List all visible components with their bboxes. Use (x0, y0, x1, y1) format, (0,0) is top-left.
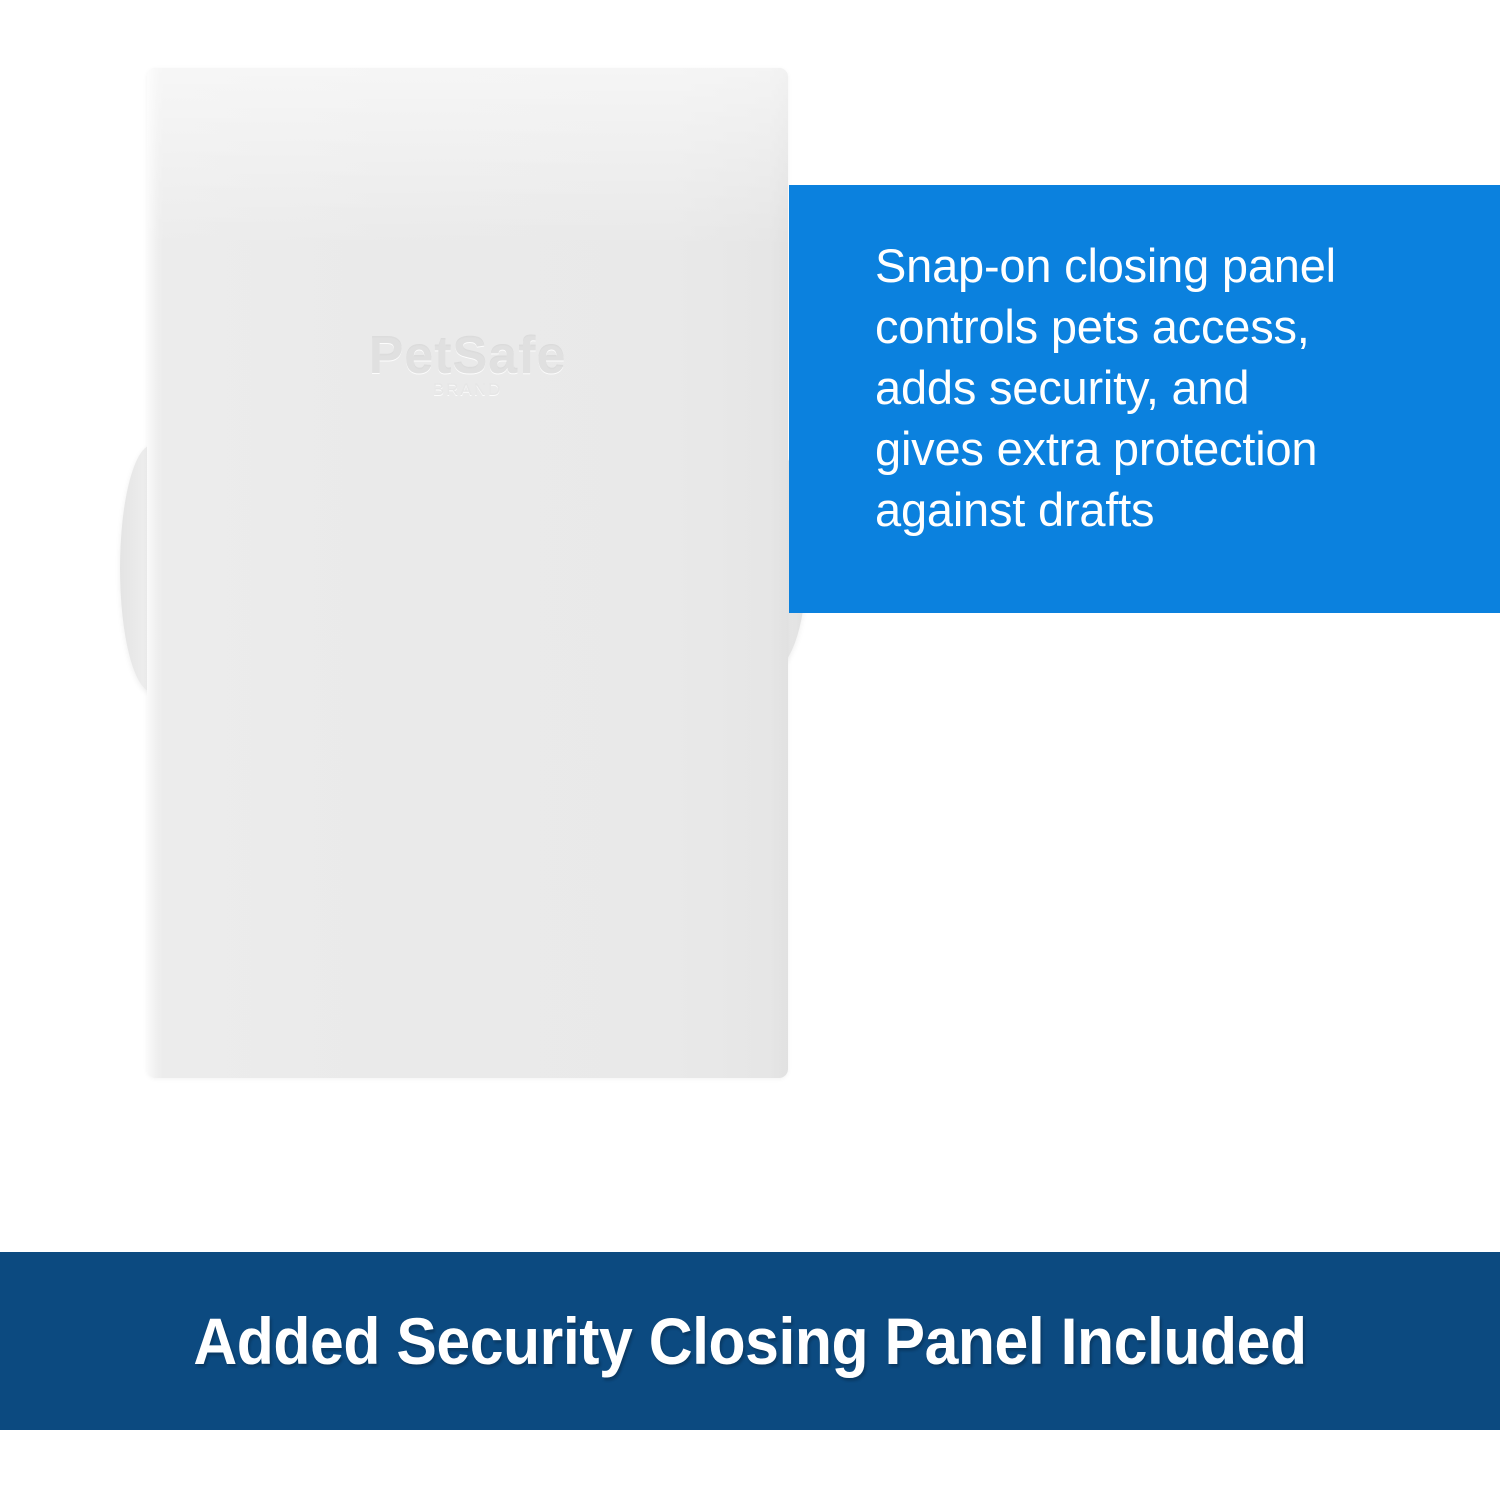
feature-callout-text: Snap-on closing panel controls pets acce… (875, 235, 1460, 540)
brand-wordmark-subtext: BRAND (433, 380, 503, 400)
panel-top-sheen (147, 68, 788, 248)
product-photo: PetSafe BRAND Snap-on closing panel cont… (0, 0, 1500, 1252)
product-marketing-image: PetSafe BRAND Snap-on closing panel cont… (0, 0, 1500, 1500)
feature-callout-box: Snap-on closing panel controls pets acce… (789, 185, 1500, 613)
bottom-banner-headline: Added Security Closing Panel Included (60, 1252, 1440, 1430)
brand-wordmark: PetSafe (369, 326, 567, 386)
bottom-banner: Added Security Closing Panel Included (0, 1252, 1500, 1430)
closing-panel-product: PetSafe BRAND (147, 68, 788, 1078)
